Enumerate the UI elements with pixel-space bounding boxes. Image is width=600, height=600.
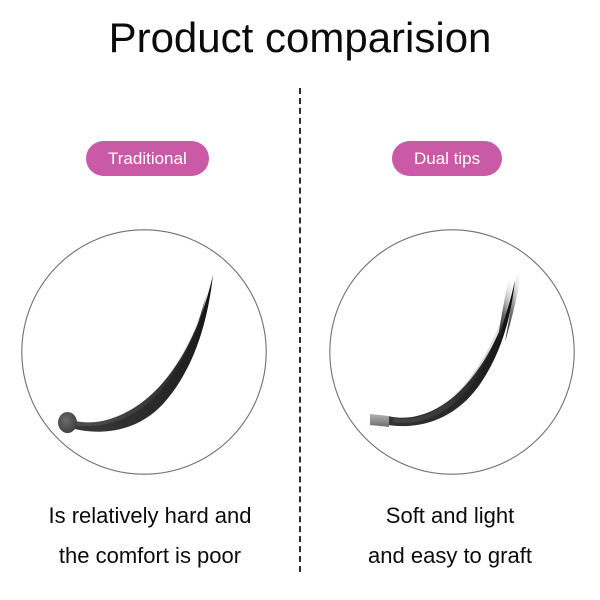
lash-base-flat bbox=[370, 414, 389, 427]
caption-line: the comfort is poor bbox=[0, 536, 300, 576]
product-comparison-page: Product comparision Traditional bbox=[0, 0, 600, 600]
caption-dual-tips: Soft and light and easy to graft bbox=[300, 496, 600, 576]
badge-dual-tips: Dual tips bbox=[392, 141, 502, 176]
caption-traditional: Is relatively hard and the comfort is po… bbox=[0, 496, 300, 576]
lash-base-cap bbox=[58, 412, 77, 433]
badge-traditional: Traditional bbox=[86, 141, 209, 176]
traditional-lash-illustration bbox=[21, 228, 267, 476]
column-traditional: Traditional bbox=[0, 0, 300, 600]
illustration-circle-outline bbox=[22, 230, 266, 474]
column-dual-tips: Dual tips bbox=[300, 0, 600, 600]
dual-tips-lash-illustration bbox=[329, 228, 575, 476]
caption-line: Is relatively hard and bbox=[0, 496, 300, 536]
caption-line: and easy to graft bbox=[300, 536, 600, 576]
caption-line: Soft and light bbox=[300, 496, 600, 536]
illustration-circle-outline bbox=[330, 230, 574, 474]
